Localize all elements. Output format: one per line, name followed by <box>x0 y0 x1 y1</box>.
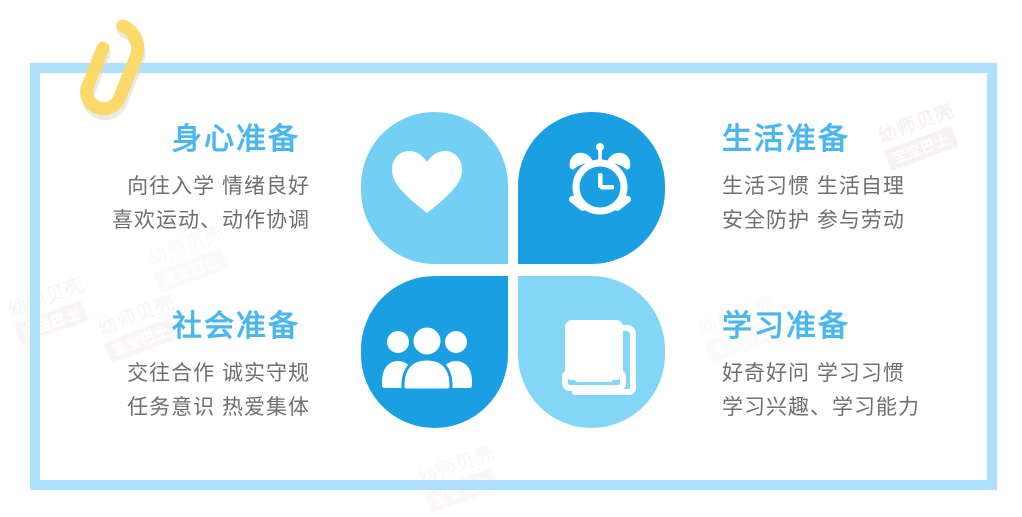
quadrant-line: 安全防护 参与劳动 <box>722 204 1012 238</box>
quadrant-line: 学习兴趣、学习能力 <box>722 391 1012 425</box>
quadrant-line: 交往合作 诚实守规 <box>20 357 310 391</box>
quadrant-study: 学习准备 好奇好问 学习习惯 学习兴趣、学习能力 <box>722 310 1012 424</box>
quadrant-social: 社会准备 交往合作 诚实守规 任务意识 热爱集体 <box>20 310 310 424</box>
quadrant-line: 好奇好问 学习习惯 <box>722 357 1012 391</box>
infographic-poster: 幼师贝壳 宝宝巴士 幼师贝壳 宝宝巴士 幼师贝壳 宝宝巴士 幼师贝壳 宝宝巴士 … <box>0 0 1022 517</box>
quadrant-title: 生活准备 <box>722 123 1012 156</box>
book-icon <box>526 282 673 434</box>
petal-study[interactable] <box>518 276 665 428</box>
petal-social[interactable] <box>361 276 508 428</box>
quadrant-line: 向往入学 情绪良好 <box>20 170 310 204</box>
clover-diagram <box>361 112 665 428</box>
paperclip-icon <box>44 6 174 131</box>
petal-life[interactable] <box>518 112 665 264</box>
quadrant-title: 学习准备 <box>722 310 1012 343</box>
quadrant-life: 生活准备 生活习惯 生活自理 安全防护 参与劳动 <box>722 123 1012 237</box>
people-group-icon <box>353 282 500 434</box>
quadrant-body-mind: 身心准备 向往入学 情绪良好 喜欢运动、动作协调 <box>20 123 310 237</box>
quadrant-line: 生活习惯 生活自理 <box>722 170 1012 204</box>
quadrant-line: 任务意识 热爱集体 <box>20 391 310 425</box>
heart-icon <box>353 106 500 258</box>
petal-body-mind[interactable] <box>361 112 508 264</box>
quadrant-line: 喜欢运动、动作协调 <box>20 204 310 238</box>
quadrant-title: 社会准备 <box>20 310 310 343</box>
alarm-clock-icon <box>526 106 673 258</box>
